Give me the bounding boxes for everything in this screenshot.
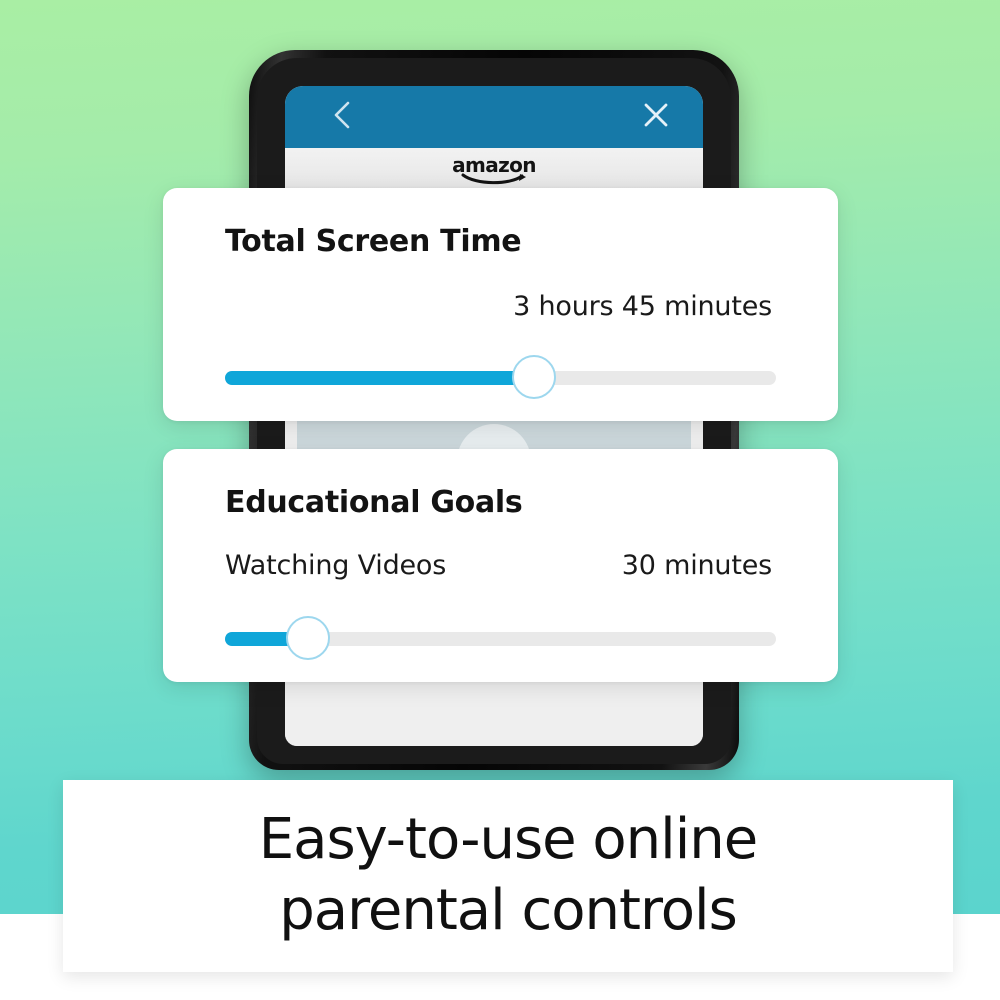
educational-goals-row-label: Watching Videos	[225, 550, 446, 581]
educational-goals-row: Watching Videos 30 minutes	[225, 550, 772, 581]
card-total-screen-time: Total Screen Time 3 hours 45 minutes	[163, 188, 838, 421]
card-educational-goals: Educational Goals Watching Videos 30 min…	[163, 449, 838, 682]
screen-time-slider[interactable]	[225, 369, 776, 387]
screen-time-value: 3 hours 45 minutes	[513, 291, 772, 322]
caption-card: Easy-to-use online parental controls	[63, 780, 953, 972]
caption-line-1: Easy-to-use online	[259, 805, 757, 876]
amazon-wordmark: amazon	[448, 155, 540, 175]
screen-time-slider-fill	[225, 371, 534, 385]
app-header-bar	[285, 86, 703, 148]
amazon-brand-strip: amazon	[285, 148, 703, 192]
close-x-icon[interactable]	[641, 100, 671, 134]
educational-goals-slider-thumb[interactable]	[286, 616, 330, 660]
promo-image-root: amazon View all of Alex's activity	[0, 0, 1000, 1000]
caption-line-2: parental controls	[279, 876, 737, 947]
amazon-logo: amazon	[448, 155, 540, 186]
chevron-left-icon[interactable]	[331, 99, 353, 135]
educational-goals-row-value: 30 minutes	[622, 550, 772, 581]
screen-time-title: Total Screen Time	[225, 224, 521, 259]
educational-goals-title: Educational Goals	[225, 485, 522, 520]
educational-goals-slider[interactable]	[225, 630, 776, 648]
screen-time-slider-thumb[interactable]	[512, 355, 556, 399]
